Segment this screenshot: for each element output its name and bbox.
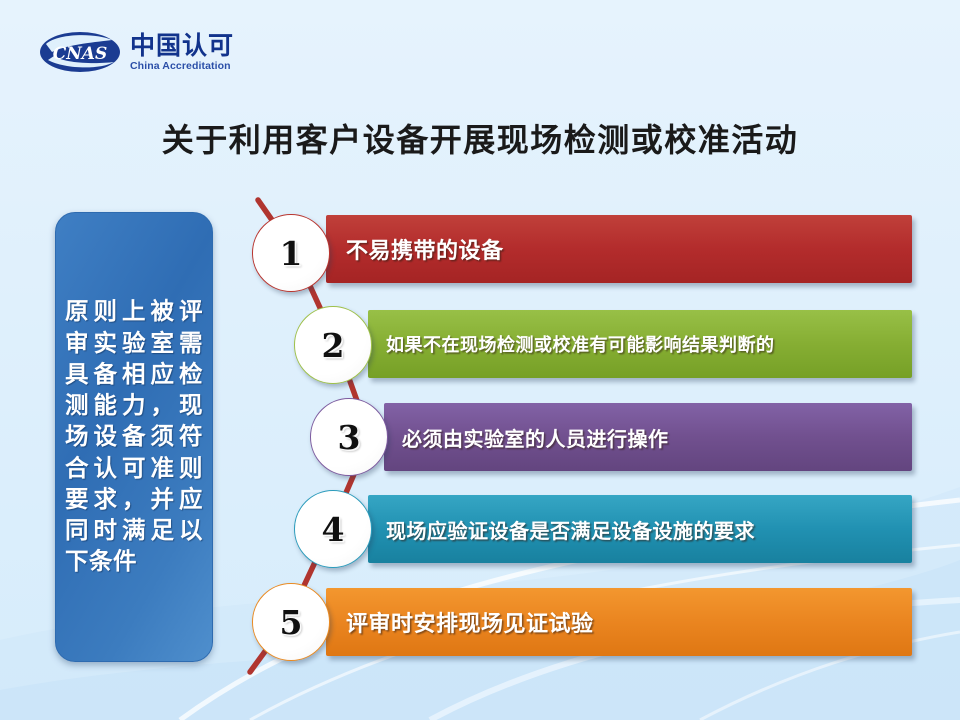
step-bar-5[interactable]: 评审时安排现场见证试验 [326, 588, 912, 656]
step-circle-2[interactable]: 2 [294, 306, 372, 384]
step-label-1: 不易携带的设备 [346, 233, 504, 265]
step-bar-1[interactable]: 不易携带的设备 [326, 215, 912, 283]
step-circle-5[interactable]: 5 [252, 583, 330, 661]
step-circle-3[interactable]: 3 [310, 398, 388, 476]
step-bar-2[interactable]: 如果不在现场检测或校准有可能影响结果判断的 [368, 310, 912, 378]
step-circle-1[interactable]: 1 [252, 214, 330, 292]
step-bar-4[interactable]: 现场应验证设备是否满足设备设施的要求 [368, 495, 912, 563]
step-bar-3[interactable]: 必须由实验室的人员进行操作 [384, 403, 912, 471]
page-title: 关于利用客户设备开展现场检测或校准活动 [0, 115, 960, 161]
step-label-5: 评审时安排现场见证试验 [346, 606, 594, 638]
condition-summary-panel: 原则上被评审实验室需具备相应检测能力，现场设备须符合认可准则要求，并应同时满足以… [55, 212, 213, 662]
step-number-1: 1 [280, 237, 303, 270]
condition-summary-text: 原则上被评审实验室需具备相应检测能力，现场设备须符合认可准则要求，并应同时满足以… [65, 296, 203, 577]
step-number-5: 5 [280, 606, 303, 639]
slide-canvas: CNAS 中国认可 China Accreditation 关于利用客户设备开展… [0, 0, 960, 720]
step-label-3: 必须由实验室的人员进行操作 [402, 423, 669, 452]
step-label-4: 现场应验证设备是否满足设备设施的要求 [386, 515, 755, 544]
step-number-2: 2 [322, 329, 345, 362]
step-circle-4[interactable]: 4 [294, 490, 372, 568]
step-label-2: 如果不在现场检测或校准有可能影响结果判断的 [386, 331, 775, 357]
step-number-4: 4 [322, 513, 345, 546]
step-number-3: 3 [338, 421, 361, 454]
logo-chinese-name: 中国认可 [130, 33, 234, 58]
logo-english-name: China Accreditation [130, 61, 234, 72]
cnas-logo-mark-text: CNAS [53, 44, 108, 64]
cnas-logo-icon: CNAS [38, 30, 122, 74]
cnas-logo: CNAS 中国认可 China Accreditation [38, 28, 238, 76]
